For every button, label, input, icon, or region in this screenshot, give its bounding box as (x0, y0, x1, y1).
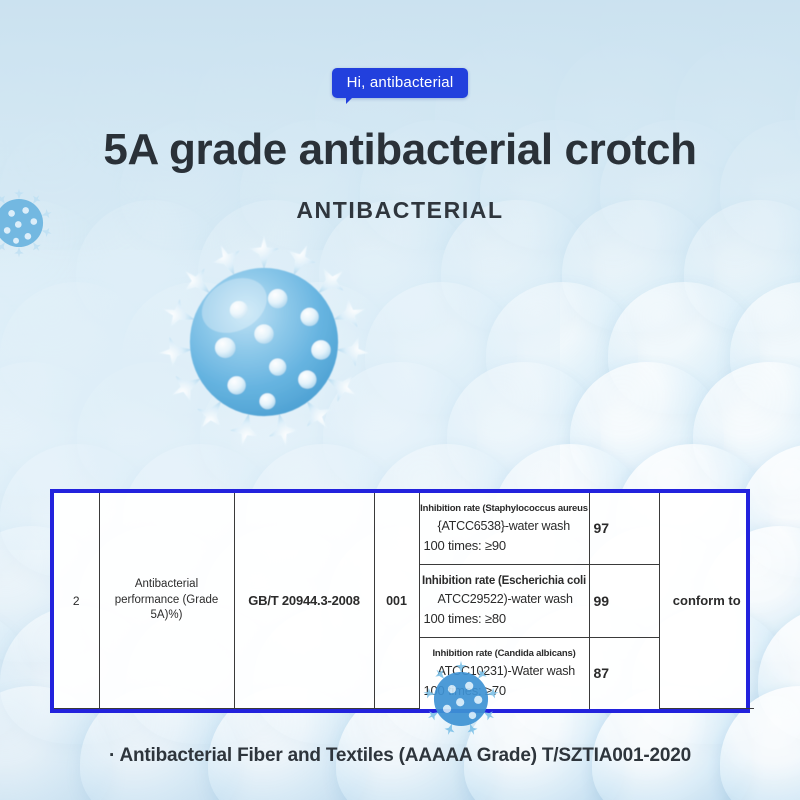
requirement-line-2: ATCC29522)-water wash (424, 592, 573, 606)
standard-footnote: · Antibacterial Fiber and Textiles (AAAA… (0, 745, 800, 767)
cell-index: 2 (54, 493, 99, 709)
cell-standard: GB/T 20944.3-2008 (234, 493, 374, 709)
requirement-line-2: {ATCC6538}-water wash (424, 519, 570, 533)
badge-container: Hi, antibacterial (0, 68, 800, 98)
cell-item: Antibacterial performance (Grade 5A)%) (99, 493, 234, 709)
virus-particle-icon (420, 658, 502, 740)
cell-conclusion: conform to (659, 493, 754, 709)
virus-particle-icon (150, 228, 378, 456)
page-subtitle: ANTIBACTERIAL (0, 198, 800, 223)
hi-antibacterial-badge[interactable]: Hi, antibacterial (332, 68, 469, 98)
cell-value: 87 (589, 637, 659, 708)
cell-value: 99 (589, 564, 659, 637)
requirement-line-3: 100 times: ≥90 (424, 538, 506, 553)
antibacterial-spec-table: 2 Antibacterial performance (Grade 5A)%)… (50, 489, 750, 713)
cell-value: 97 (589, 493, 659, 564)
spec-table: 2 Antibacterial performance (Grade 5A)%)… (54, 493, 754, 709)
requirement-line-1: Inhibition rate (Escherichia coli (422, 575, 586, 587)
cell-requirement: Inhibition rate (Staphylococcus aureus {… (419, 493, 589, 564)
cell-code: 001 (374, 493, 419, 709)
table-row: 2 Antibacterial performance (Grade 5A)%)… (54, 493, 754, 564)
requirement-line-1: Inhibition rate (Staphylococcus aureus (420, 503, 588, 514)
page-title: 5A grade antibacterial crotch (0, 126, 800, 174)
requirement-line-3: 100 times: ≥80 (424, 611, 506, 626)
cell-requirement: Inhibition rate (Escherichia coli ATCC29… (419, 564, 589, 637)
